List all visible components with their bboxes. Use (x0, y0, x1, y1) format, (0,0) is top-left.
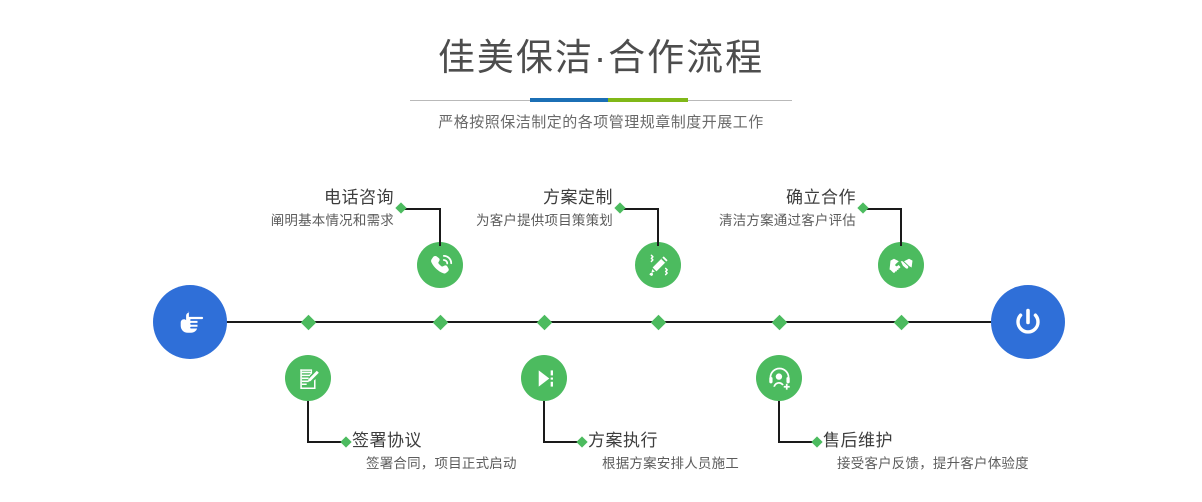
step-connector-tip-2 (340, 436, 351, 447)
step-node-3[interactable] (635, 242, 681, 288)
step-node-5[interactable] (878, 242, 924, 288)
step-connector-tip-4 (576, 436, 587, 447)
handshake-icon (888, 252, 915, 279)
phone-call-icon (427, 252, 454, 279)
step-label-2: 签署协议 签署合同，项目正式启动 (352, 430, 517, 474)
step-connector-vertical-4 (543, 401, 545, 442)
headset-support-icon (766, 365, 793, 392)
step-marker-4 (536, 314, 552, 330)
step-marker-1 (432, 314, 448, 330)
step-title-3: 方案定制 (370, 187, 613, 209)
step-connector-tip-5 (857, 202, 868, 213)
play-execute-icon (531, 365, 558, 392)
step-subtitle-2: 签署合同，项目正式启动 (366, 454, 517, 474)
step-subtitle-5: 清洁方案通过客户评估 (613, 211, 856, 231)
step-node-4[interactable] (521, 355, 567, 401)
step-connector-tip-6 (811, 436, 822, 447)
step-node-1[interactable] (417, 242, 463, 288)
step-label-3: 方案定制 为客户提供项目策策划 (370, 187, 613, 231)
step-marker-6 (771, 314, 787, 330)
step-title-1: 电话咨询 (148, 187, 394, 209)
step-connector-vertical-5 (900, 208, 902, 246)
step-title-4: 方案执行 (588, 430, 739, 452)
flow-start-endpoint[interactable] (153, 285, 227, 359)
step-label-4: 方案执行 根据方案安排人员施工 (588, 430, 739, 474)
step-label-5: 确立合作 清洁方案通过客户评估 (613, 187, 856, 231)
step-title-2: 签署协议 (352, 430, 517, 452)
step-subtitle-6: 接受客户反馈，提升客户体验度 (837, 454, 1029, 474)
step-title-6: 售后维护 (823, 430, 1029, 452)
flow-end-endpoint[interactable] (991, 285, 1065, 359)
pointing-hand-icon (170, 302, 210, 342)
process-flow-diagram: 电话咨询 阐明基本情况和需求 签署协议 签署合同，项目正式启动 (0, 0, 1202, 502)
step-label-1: 电话咨询 阐明基本情况和需求 (148, 187, 394, 231)
step-connector-vertical-6 (778, 401, 780, 442)
step-marker-5 (893, 314, 909, 330)
document-edit-icon (295, 365, 322, 392)
pencil-design-icon (645, 252, 672, 279)
step-marker-3 (650, 314, 666, 330)
step-subtitle-4: 根据方案安排人员施工 (602, 454, 739, 474)
step-node-6[interactable] (756, 355, 802, 401)
power-icon (1008, 302, 1048, 342)
step-node-2[interactable] (285, 355, 331, 401)
step-subtitle-1: 阐明基本情况和需求 (148, 211, 394, 231)
step-marker-2 (300, 314, 316, 330)
step-connector-horizontal-5 (863, 208, 901, 210)
step-connector-vertical-2 (307, 401, 309, 442)
step-title-5: 确立合作 (613, 187, 856, 209)
step-subtitle-3: 为客户提供项目策策划 (370, 211, 613, 231)
step-label-6: 售后维护 接受客户反馈，提升客户体验度 (823, 430, 1029, 474)
